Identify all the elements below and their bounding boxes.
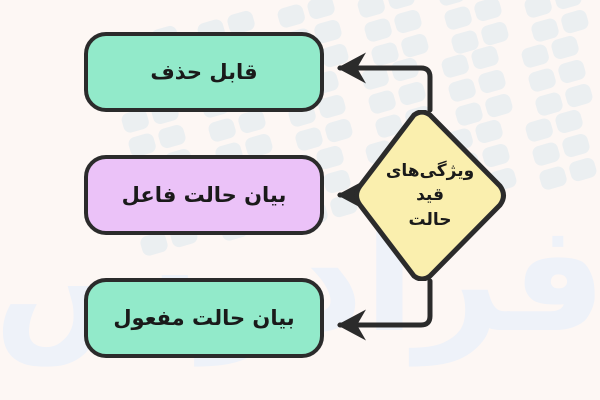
connector-to-deletable	[340, 68, 430, 110]
diagram-canvas: فرادرس	[0, 0, 600, 400]
node-object-state[interactable]: بیان حالت مفعول	[84, 278, 324, 358]
node-subject-state[interactable]: بیان حالت فاعل	[84, 155, 324, 235]
decision-diamond-shape	[357, 112, 504, 279]
connector-to-object-state	[340, 281, 430, 325]
node-object-state-label: بیان حالت مفعول	[113, 304, 294, 332]
decision-node[interactable]: ویژگی‌های قید حالت	[348, 110, 512, 281]
node-deletable-label: قابل حذف	[150, 58, 257, 86]
node-subject-state-label: بیان حالت فاعل	[122, 181, 287, 209]
node-deletable[interactable]: قابل حذف	[84, 32, 324, 112]
